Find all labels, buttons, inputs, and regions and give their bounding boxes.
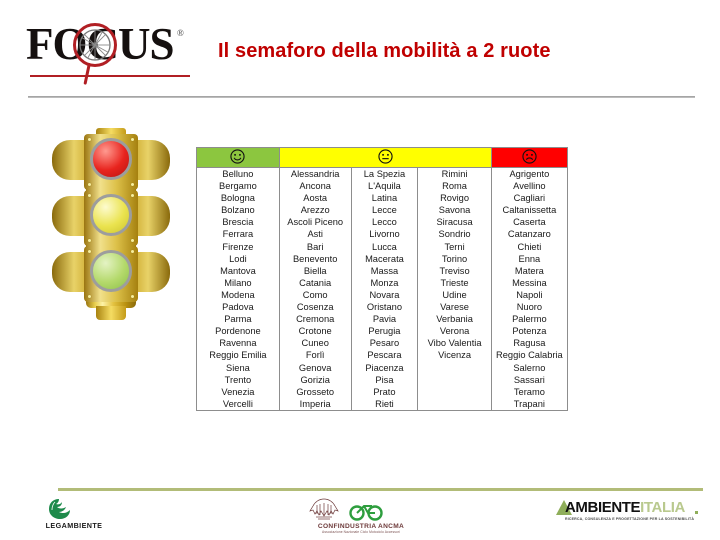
- city-name: Palermo: [492, 313, 567, 325]
- green-light: [90, 250, 132, 292]
- city-name: Ragusa: [492, 337, 567, 349]
- city-name: Reggio Emilia: [197, 349, 279, 361]
- city-name: Messina: [492, 277, 567, 289]
- city-name: Agrigento: [492, 168, 567, 180]
- city-name: Savona: [418, 204, 490, 216]
- city-name: Macerata: [352, 253, 418, 265]
- green-header-cell: [197, 148, 280, 168]
- city-name: Sondrio: [418, 228, 490, 240]
- city-name: Terni: [418, 241, 490, 253]
- city-name: Enna: [492, 253, 567, 265]
- traffic-light-green-unit: [46, 246, 176, 304]
- city-name: Pavia: [352, 313, 418, 325]
- city-name: Livorno: [352, 228, 418, 240]
- city-name: Chieti: [492, 241, 567, 253]
- city-name: Crotone: [280, 325, 351, 337]
- footer-divider: [58, 488, 703, 491]
- city-name: Varese: [418, 301, 490, 313]
- city-name: Parma: [197, 313, 279, 325]
- city-name: Caltanissetta: [492, 204, 567, 216]
- city-name: Pordenone: [197, 325, 279, 337]
- city-name: Firenze: [197, 241, 279, 253]
- city-name: Arezzo: [280, 204, 351, 216]
- traffic-light-yellow-unit: [46, 190, 176, 248]
- city-name: Bolzano: [197, 204, 279, 216]
- city-name: Belluno: [197, 168, 279, 180]
- city-name: Ancona: [280, 180, 351, 192]
- city-name: Treviso: [418, 265, 490, 277]
- city-name: Trieste: [418, 277, 490, 289]
- yellow-header-cell: [279, 148, 491, 168]
- city-name: Oristano: [352, 301, 418, 313]
- city-name: Udine: [418, 289, 490, 301]
- table-header-row: [197, 148, 568, 168]
- registered-mark-icon: ®: [177, 28, 184, 38]
- city-name: Perugia: [352, 325, 418, 337]
- city-name: Salerno: [492, 362, 567, 374]
- city-name: Cosenza: [280, 301, 351, 313]
- city-name: Lodi: [197, 253, 279, 265]
- traffic-light-bottom-cap: [96, 306, 126, 320]
- city-name: Imperia: [280, 398, 351, 410]
- smiling-face-icon: [230, 149, 245, 164]
- city-name: L'Aquila: [352, 180, 418, 192]
- city-name: Aosta: [280, 192, 351, 204]
- red-light: [90, 138, 132, 180]
- yellow-city-column-1: AlessandriaAnconaAostaArezzoAscoli Picen…: [279, 168, 351, 411]
- city-name: La Spezia: [352, 168, 418, 180]
- city-name: Venezia: [197, 386, 279, 398]
- city-name: Benevento: [280, 253, 351, 265]
- city-name: Gorizia: [280, 374, 351, 386]
- header-divider: [28, 96, 695, 98]
- city-name: Bergamo: [197, 180, 279, 192]
- confindustria-ancma-logo: CONFINDUSTRIA ANCMA Associazione Naziona…: [300, 497, 430, 535]
- green-city-column: BellunoBergamoBolognaBolzanoBresciaFerra…: [197, 168, 280, 411]
- city-name: Cagliari: [492, 192, 567, 204]
- city-name: Mantova: [197, 265, 279, 277]
- confindustria-subtitle: Associazione Nazionale Ciclo Motociclo A…: [300, 530, 422, 534]
- city-name: Matera: [492, 265, 567, 277]
- city-name: Forlì: [280, 349, 351, 361]
- city-name: Como: [280, 289, 351, 301]
- city-name: Rieti: [352, 398, 418, 410]
- city-name: Biella: [280, 265, 351, 277]
- city-name: Bologna: [197, 192, 279, 204]
- city-name: Verbania: [418, 313, 490, 325]
- city-name: Trento: [197, 374, 279, 386]
- city-name: Pisa: [352, 374, 418, 386]
- city-name: Pescara: [352, 349, 418, 361]
- city-name: Reggio Calabria: [492, 349, 567, 361]
- city-name: Lecco: [352, 216, 418, 228]
- city-name: Trapani: [492, 398, 567, 410]
- city-name: Genova: [280, 362, 351, 374]
- city-name: Latina: [352, 192, 418, 204]
- city-name: Vicenza: [418, 349, 490, 361]
- city-name: Monza: [352, 277, 418, 289]
- city-name: Vercelli: [197, 398, 279, 410]
- city-name: Prato: [352, 386, 418, 398]
- city-name: Piacenza: [352, 362, 418, 374]
- city-name: Ascoli Piceno: [280, 216, 351, 228]
- legambiente-label: LEGAMBIENTE: [30, 521, 118, 530]
- city-name: Napoli: [492, 289, 567, 301]
- traffic-light-graphic: [46, 128, 176, 324]
- yellow-city-column-3: RiminiRomaRovigoSavonaSiracusaSondrioTer…: [418, 168, 491, 411]
- city-name: Padova: [197, 301, 279, 313]
- city-name: Brescia: [197, 216, 279, 228]
- city-name: Lecce: [352, 204, 418, 216]
- eagle-icon: [307, 497, 341, 523]
- city-name: Vibo Valentia: [418, 337, 490, 349]
- city-name: Alessandria: [280, 168, 351, 180]
- city-name: Siracusa: [418, 216, 490, 228]
- city-name: Torino: [418, 253, 490, 265]
- italia-label: ITALIA: [640, 499, 685, 516]
- city-name: Nuoro: [492, 301, 567, 313]
- yellow-city-column-2: La SpeziaL'AquilaLatinaLecceLeccoLivorno…: [351, 168, 418, 411]
- red-city-column: AgrigentoAvellinoCagliariCaltanissettaCa…: [491, 168, 567, 411]
- city-name: Lucca: [352, 241, 418, 253]
- city-name: Catanzaro: [492, 228, 567, 240]
- neutral-face-icon: [378, 149, 393, 164]
- swan-icon: [46, 498, 72, 520]
- city-name: Modena: [197, 289, 279, 301]
- city-name: Cremona: [280, 313, 351, 325]
- ambiente-label: AMBIENTE: [565, 499, 640, 516]
- city-name: Novara: [352, 289, 418, 301]
- city-name: Bari: [280, 241, 351, 253]
- red-header-cell: [491, 148, 567, 168]
- city-name: Sassari: [492, 374, 567, 386]
- frowning-face-icon: [522, 149, 537, 164]
- legambiente-logo: LEGAMBIENTE: [30, 498, 120, 534]
- city-name: Milano: [197, 277, 279, 289]
- focus-logo: FOCUS ®: [26, 22, 201, 80]
- table-body-row: BellunoBergamoBolognaBolzanoBresciaFerra…: [197, 168, 568, 411]
- ambienteitalia-subtitle: RICERCA, CONSULENZA E PROGETTAZIONE PER …: [565, 517, 694, 521]
- ambienteitalia-wordmark: AMBIENTEITALIA: [565, 499, 685, 516]
- city-name: Roma: [418, 180, 490, 192]
- city-name: Teramo: [492, 386, 567, 398]
- city-name: Cuneo: [280, 337, 351, 349]
- ambienteitalia-logo: AMBIENTEITALIA RICERCA, CONSULENZA E PRO…: [556, 498, 706, 534]
- yellow-light: [90, 194, 132, 236]
- city-name: Massa: [352, 265, 418, 277]
- city-name: Verona: [418, 325, 490, 337]
- city-name: Siena: [197, 362, 279, 374]
- city-name: Rimini: [418, 168, 490, 180]
- city-name: Avellino: [492, 180, 567, 192]
- city-name: Caserta: [492, 216, 567, 228]
- dot-icon: [695, 511, 698, 514]
- traffic-light-red-unit: [46, 134, 176, 192]
- city-name: Rovigo: [418, 192, 490, 204]
- city-name: Grosseto: [280, 386, 351, 398]
- city-ratings-table: BellunoBergamoBolognaBolzanoBresciaFerra…: [196, 147, 568, 411]
- wheel-icon: [78, 28, 112, 62]
- city-name: Ferrara: [197, 228, 279, 240]
- bicycle-icon: [348, 501, 384, 521]
- city-name: Potenza: [492, 325, 567, 337]
- city-name: Asti: [280, 228, 351, 240]
- confindustria-label: CONFINDUSTRIA ANCMA: [300, 523, 422, 530]
- city-name: Pesaro: [352, 337, 418, 349]
- page-title: Il semaforo della mobilità a 2 ruote: [218, 40, 551, 63]
- slide-canvas: FOCUS ® Il semaforo della mobilità a 2 r…: [0, 0, 720, 540]
- city-name: Ravenna: [197, 337, 279, 349]
- city-name: Catania: [280, 277, 351, 289]
- focus-underline: [30, 75, 190, 77]
